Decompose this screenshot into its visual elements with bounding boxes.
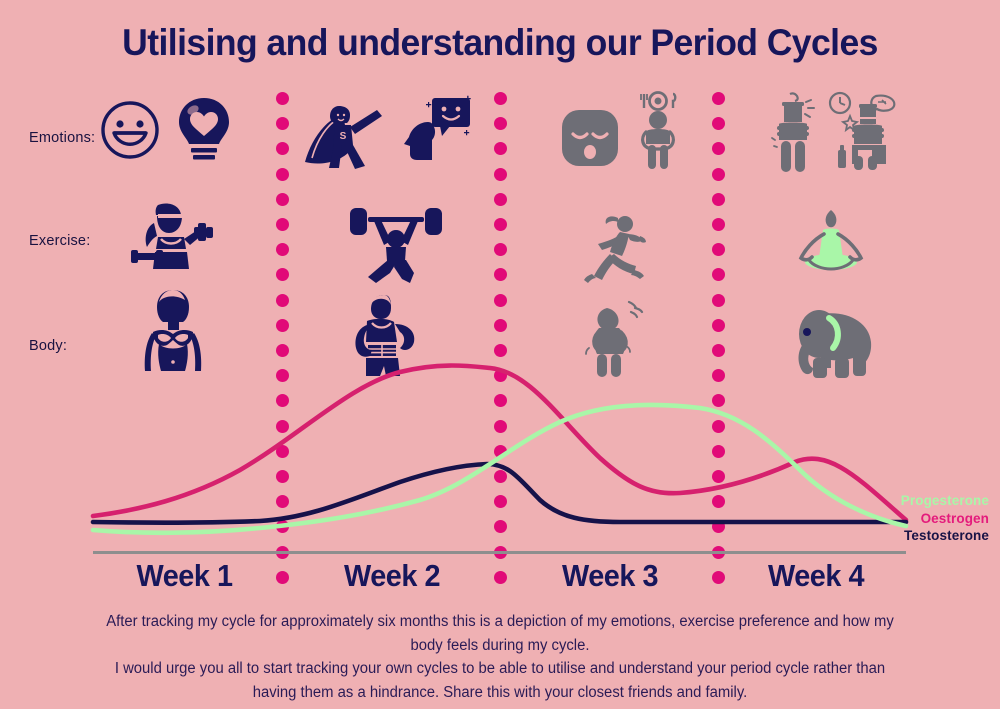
- weightlifter-icon: [348, 205, 444, 285]
- footer-line-1: After tracking my cycle for approximatel…: [64, 610, 937, 634]
- divider-dot: [494, 243, 507, 256]
- divider-dot: [712, 193, 725, 206]
- week-label-1: Week 1: [99, 558, 269, 594]
- infographic-canvas: Utilising and understanding our Period C…: [0, 0, 1000, 709]
- divider-dot: [712, 218, 725, 231]
- footer-line-4: having them as a hindrance. Share this w…: [64, 681, 937, 705]
- yoga-meditation-icon: [793, 208, 869, 278]
- week-label-4: Week 4: [732, 558, 899, 594]
- week-label-row: Week 1 Week 2 Week 3 Week 4: [0, 558, 1000, 598]
- week-label-3: Week 3: [515, 558, 705, 594]
- row-label-emotions: Emotions:: [29, 130, 95, 146]
- divider-dot: [494, 193, 507, 206]
- woman-dumbbell-icon: [128, 197, 218, 275]
- hungry-person-food-icon: [630, 92, 686, 170]
- divider-dot: [276, 193, 289, 206]
- chart-legend: Progesterone Oestrogen Testosterone: [901, 492, 989, 545]
- legend-item-progesterone: Progesterone: [901, 492, 989, 510]
- head-speech-bubble-smile-icon: [402, 96, 472, 162]
- footer-line-3: I would urge you all to start tracking y…: [64, 657, 937, 681]
- divider-dot: [276, 92, 289, 105]
- legend-item-testosterone: Testosterone: [901, 527, 989, 545]
- divider-dot: [494, 117, 507, 130]
- divider-dot: [712, 92, 725, 105]
- row-label-exercise: Exercise:: [29, 233, 90, 249]
- divider-dot: [712, 168, 725, 181]
- week-label-2: Week 2: [297, 558, 487, 594]
- divider-dot: [712, 268, 725, 281]
- footer-line-2: body feels during my cycle.: [64, 634, 937, 658]
- divider-dot: [494, 92, 507, 105]
- divider-dot: [494, 168, 507, 181]
- chart-baseline: [93, 551, 906, 554]
- divider-dot: [276, 218, 289, 231]
- superhero-woman-icon: S: [303, 100, 391, 172]
- testosterone-curve: [93, 464, 906, 523]
- divider-dot: [494, 268, 507, 281]
- divider-dot: [712, 117, 725, 130]
- divider-dot: [276, 294, 289, 307]
- oestrogen-curve: [93, 366, 906, 521]
- svg-text:S: S: [340, 131, 347, 142]
- divider-dot: [276, 168, 289, 181]
- divider-dot: [712, 243, 725, 256]
- page-title: Utilising and understanding our Period C…: [20, 22, 980, 64]
- footer-text: After tracking my cycle for approximatel…: [64, 610, 937, 704]
- divider-dot: [276, 243, 289, 256]
- frustrated-person-icon: [768, 92, 826, 174]
- divider-dot: [712, 142, 725, 155]
- divider-dot: [276, 117, 289, 130]
- running-woman-icon: [582, 212, 658, 282]
- divider-dot: [494, 294, 507, 307]
- tired-face-icon: [560, 108, 620, 168]
- smiley-face-icon: [100, 100, 160, 160]
- hormone-chart: [0, 330, 1000, 570]
- divider-dot: [276, 268, 289, 281]
- lightbulb-heart-icon: [176, 96, 232, 162]
- divider-dot: [494, 218, 507, 231]
- divider-dot: [276, 142, 289, 155]
- divider-dot: [712, 294, 725, 307]
- legend-item-oestrogen: Oestrogen: [901, 510, 989, 528]
- person-toilet-clock-icon: [828, 92, 898, 174]
- divider-dot: [494, 142, 507, 155]
